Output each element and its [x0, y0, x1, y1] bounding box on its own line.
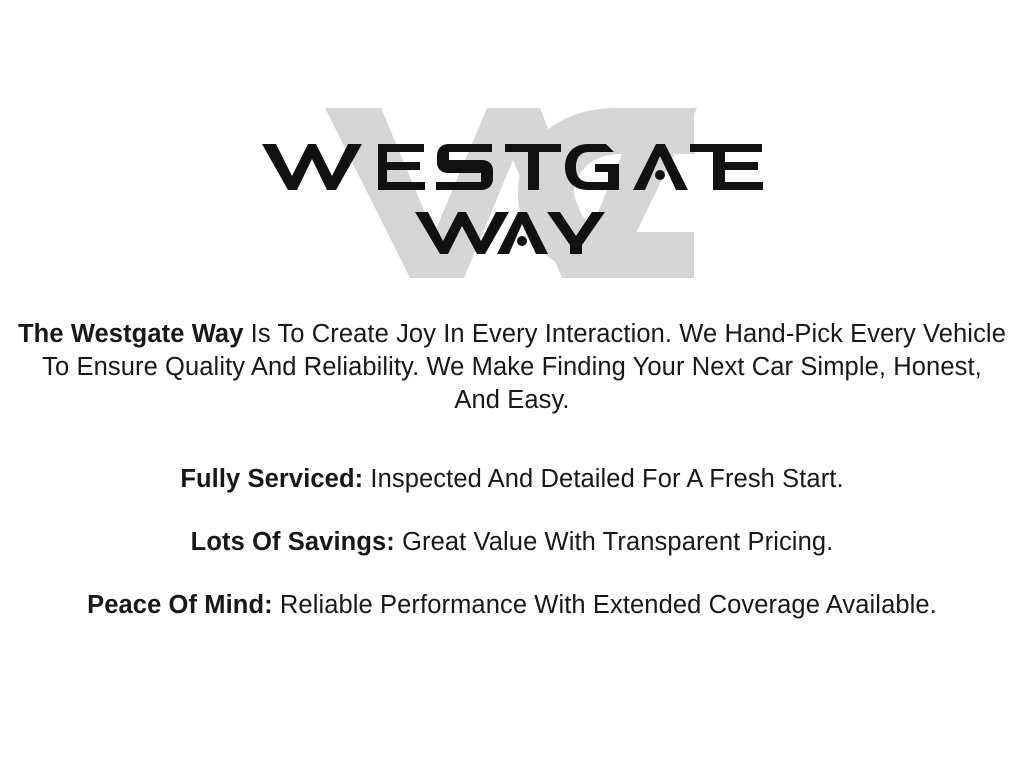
lots-of-savings-text: Great Value With Transparent Pricing.: [395, 528, 833, 556]
fully-serviced-lead: Fully Serviced:: [180, 465, 363, 493]
page-root: The Westgate Way Is To Create Joy In Eve…: [0, 0, 1024, 768]
paragraph-peace-of-mind: Peace Of Mind: Reliable Performance With…: [0, 589, 1024, 622]
peace-of-mind-text: Reliable Performance With Extended Cover…: [273, 591, 937, 619]
westgate-way-logotype: [0, 96, 1024, 296]
spacer: [0, 496, 1024, 526]
body-copy: The Westgate Way Is To Create Joy In Eve…: [0, 318, 1024, 622]
logo-block: [0, 96, 1024, 296]
paragraph-mission: The Westgate Way Is To Create Joy In Eve…: [0, 318, 1024, 417]
spacer: [0, 559, 1024, 589]
peace-of-mind-lead: Peace Of Mind:: [87, 591, 273, 619]
fully-serviced-text: Inspected And Detailed For A Fresh Start…: [363, 465, 843, 493]
spacer: [0, 417, 1024, 463]
mission-lead: The Westgate Way: [18, 320, 243, 348]
paragraph-lots-of-savings: Lots Of Savings: Great Value With Transp…: [0, 526, 1024, 559]
lots-of-savings-lead: Lots Of Savings:: [191, 528, 395, 556]
paragraph-fully-serviced: Fully Serviced: Inspected And Detailed F…: [0, 463, 1024, 496]
